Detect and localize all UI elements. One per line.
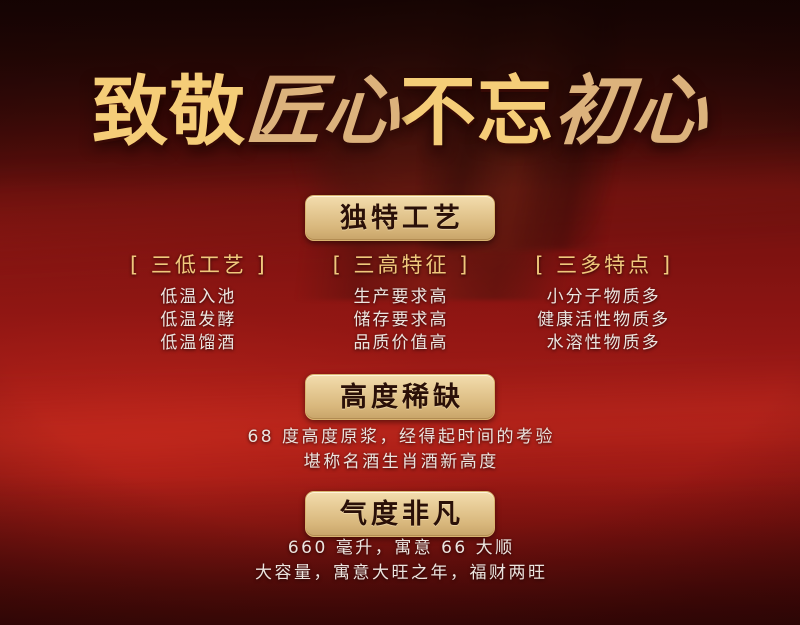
list-item: 生产要求高 bbox=[299, 286, 502, 309]
list-item: 健康活性物质多 bbox=[501, 309, 704, 332]
badge-extraordinary-bearing-label: 气度非凡 bbox=[336, 501, 464, 528]
feature-column-low: [ 三低工艺 ] 低温入池 低温发酵 低温馏酒 bbox=[96, 250, 299, 355]
list-item: 低温入池 bbox=[96, 286, 299, 309]
scarcity-description: 68 度高度原浆，经得起时间的考验 堪称名酒生肖酒新高度 bbox=[0, 425, 800, 475]
list-item: 低温馏酒 bbox=[96, 332, 299, 355]
headline-segment-1: 致敬 bbox=[92, 74, 246, 150]
list-item: 低温发酵 bbox=[96, 309, 299, 332]
headline-segment-4: 初心 bbox=[551, 74, 710, 150]
scarcity-line-1: 68 度高度原浆，经得起时间的考验 bbox=[0, 425, 800, 450]
scarcity-line-2: 堪称名酒生肖酒新高度 bbox=[0, 450, 800, 475]
poster-content: 致敬 匠心 不忘 初心 独特工艺 [ 三低工艺 ] 低温入池 低温发酵 低温馏酒… bbox=[0, 0, 800, 625]
headline-segment-3: 不忘 bbox=[400, 74, 554, 150]
list-item: 储存要求高 bbox=[299, 309, 502, 332]
feature-column-low-header: [ 三低工艺 ] bbox=[96, 250, 299, 280]
feature-column-many-list: 小分子物质多 健康活性物质多 水溶性物质多 bbox=[501, 286, 704, 355]
badge-highly-scarce: 高度稀缺 bbox=[305, 374, 495, 420]
feature-column-high-header: [ 三高特征 ] bbox=[299, 250, 502, 280]
headline-segment-2: 匠心 bbox=[243, 74, 402, 150]
capacity-description: 660 毫升，寓意 66 大顺 大容量，寓意大旺之年，福财两旺 bbox=[0, 536, 800, 586]
badge-unique-craft-label: 独特工艺 bbox=[336, 205, 464, 232]
feature-column-high-list: 生产要求高 储存要求高 品质价值高 bbox=[299, 286, 502, 355]
list-item: 水溶性物质多 bbox=[501, 332, 704, 355]
list-item: 小分子物质多 bbox=[501, 286, 704, 309]
badge-highly-scarce-label: 高度稀缺 bbox=[336, 384, 464, 411]
capacity-line-2: 大容量，寓意大旺之年，福财两旺 bbox=[0, 561, 800, 586]
feature-column-many: [ 三多特点 ] 小分子物质多 健康活性物质多 水溶性物质多 bbox=[501, 250, 704, 355]
feature-column-high: [ 三高特征 ] 生产要求高 储存要求高 品质价值高 bbox=[299, 250, 502, 355]
feature-column-low-list: 低温入池 低温发酵 低温馏酒 bbox=[96, 286, 299, 355]
poster-root: 致敬 匠心 不忘 初心 独特工艺 [ 三低工艺 ] 低温入池 低温发酵 低温馏酒… bbox=[0, 0, 800, 625]
capacity-line-1: 660 毫升，寓意 66 大顺 bbox=[0, 536, 800, 561]
feature-columns: [ 三低工艺 ] 低温入池 低温发酵 低温馏酒 [ 三高特征 ] 生产要求高 储… bbox=[96, 250, 704, 355]
badge-unique-craft: 独特工艺 bbox=[305, 195, 495, 241]
badge-extraordinary-bearing: 气度非凡 bbox=[305, 491, 495, 537]
list-item: 品质价值高 bbox=[299, 332, 502, 355]
feature-column-many-header: [ 三多特点 ] bbox=[501, 250, 704, 280]
headline: 致敬 匠心 不忘 初心 bbox=[0, 60, 800, 164]
